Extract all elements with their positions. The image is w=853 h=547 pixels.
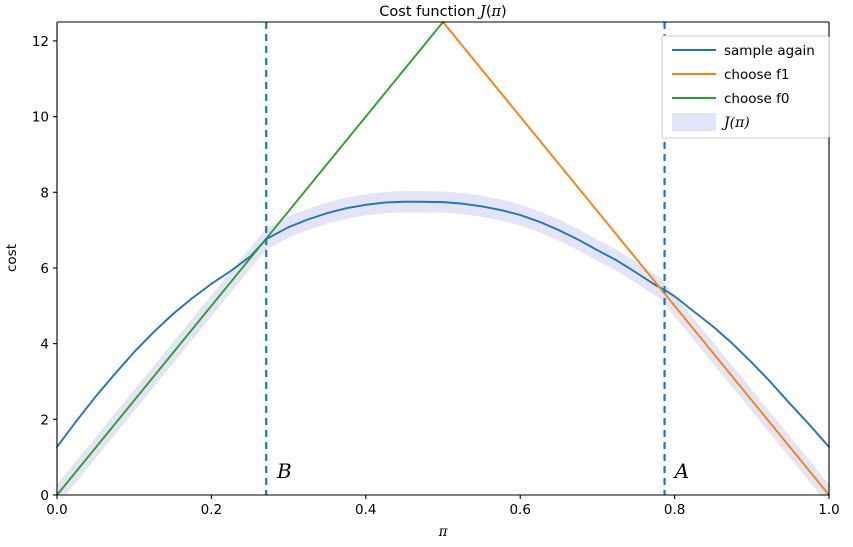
y-tick-label: 8 [40, 185, 49, 201]
chart-legend[interactable]: sample againchoose f1choose f0J(π) [662, 36, 829, 138]
x-tick-label: 0.8 [664, 502, 685, 518]
y-tick-label: 0 [40, 488, 49, 504]
x-axis-label: π [438, 524, 449, 540]
chart-title-prefix: Cost function [379, 4, 480, 20]
legend-label-j-π[interactable]: J(π) [721, 115, 750, 131]
y-tick-label: 4 [40, 337, 49, 353]
legend-label-choose-f0[interactable]: choose f0 [724, 91, 789, 107]
legend-label-sample-again[interactable]: sample again [724, 43, 815, 59]
annotation-b: B [276, 459, 292, 483]
legend-swatch-j-pi [672, 113, 716, 131]
cost-function-chart: 0.00.20.40.60.81.0 024681012 BA π cost C… [0, 0, 853, 547]
figure-canvas: 0.00.20.40.60.81.0 024681012 BA π cost C… [0, 0, 853, 547]
y-tick-label: 6 [40, 261, 49, 277]
x-tick-label: 0.6 [509, 502, 530, 518]
x-tick-label: 0.4 [355, 502, 376, 518]
x-tick-label: 0.2 [201, 502, 222, 518]
x-axis-ticks: 0.00.20.40.60.81.0 [46, 495, 839, 518]
y-tick-label: 10 [32, 110, 49, 126]
y-tick-label: 12 [32, 34, 49, 50]
y-axis-label: cost [4, 244, 20, 272]
chart-title-close-paren: ) [501, 4, 507, 20]
y-tick-label: 2 [40, 412, 49, 428]
legend-label-choose-f1[interactable]: choose f1 [724, 67, 789, 83]
chart-title: Cost function J(π) [379, 4, 506, 20]
x-tick-label: 1.0 [818, 502, 839, 518]
y-axis-ticks: 024681012 [32, 34, 57, 504]
chart-title-pi: π [490, 4, 501, 20]
x-tick-label: 0.0 [46, 502, 67, 518]
annotation-a: A [673, 459, 689, 483]
